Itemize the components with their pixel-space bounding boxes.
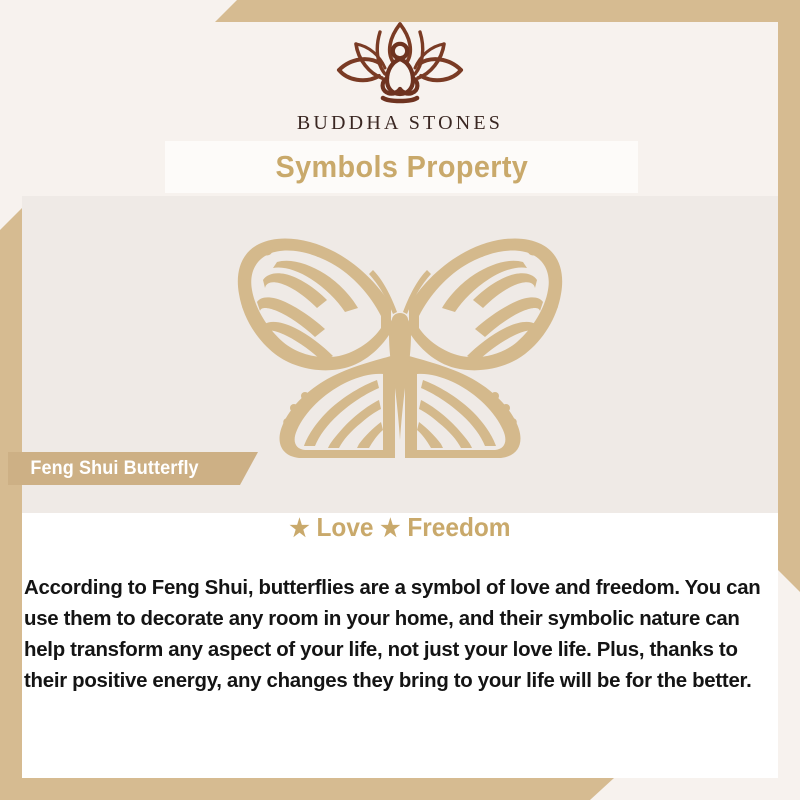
lotus-meditation-figure-icon (325, 18, 475, 110)
subheading: ★ Love ★ Freedom (45, 512, 756, 543)
product-info-graphic: BUDDHA STONES Symbols Property (0, 0, 800, 800)
tag-label: Feng Shui Butterfly (30, 458, 198, 480)
brand-logo: BUDDHA STONES (0, 18, 800, 138)
gold-frame-bottom-band (0, 778, 614, 800)
subheading-word-freedom: Freedom (407, 512, 510, 542)
butterfly-illustration (205, 228, 595, 458)
description-paragraph: According to Feng Shui, butterflies are … (24, 573, 778, 697)
star-icon-left: ★ (289, 515, 309, 542)
gold-frame-left-band (0, 208, 22, 800)
title-banner: Symbols Property (165, 141, 638, 193)
brand-name: BUDDHA STONES (297, 112, 503, 135)
page-title: Symbols Property (275, 149, 528, 185)
subheading-word-love: Love (316, 512, 373, 542)
butterfly-icon (205, 228, 595, 458)
feng-shui-butterfly-tag: Feng Shui Butterfly (8, 452, 258, 485)
star-icon-middle: ★ (380, 515, 400, 542)
